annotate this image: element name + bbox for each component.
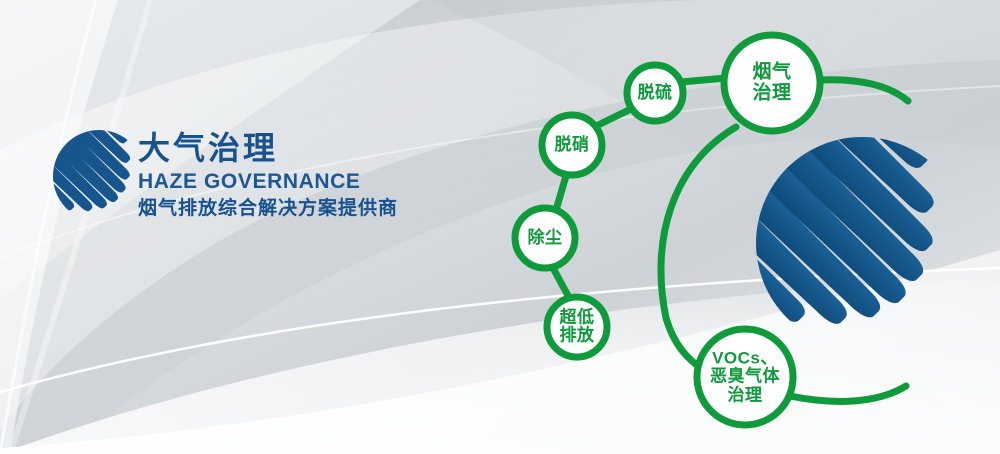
haze-governance-banner: 脱硝 脱硫 烟气 治理 除尘 超低 排放 VOCs、 恶臭气体 治理 大气治理 … [0, 0, 1000, 454]
background-gradient [0, 0, 1000, 454]
brand-title-cn: 大气治理 [138, 132, 468, 164]
brand-tagline-cn: 烟气排放综合解决方案提供商 [138, 199, 468, 218]
brand-lockup: 大气治理 HAZE GOVERNANCE 烟气排放综合解决方案提供商 [138, 132, 468, 218]
brand-title-en: HAZE GOVERNANCE [138, 171, 468, 192]
